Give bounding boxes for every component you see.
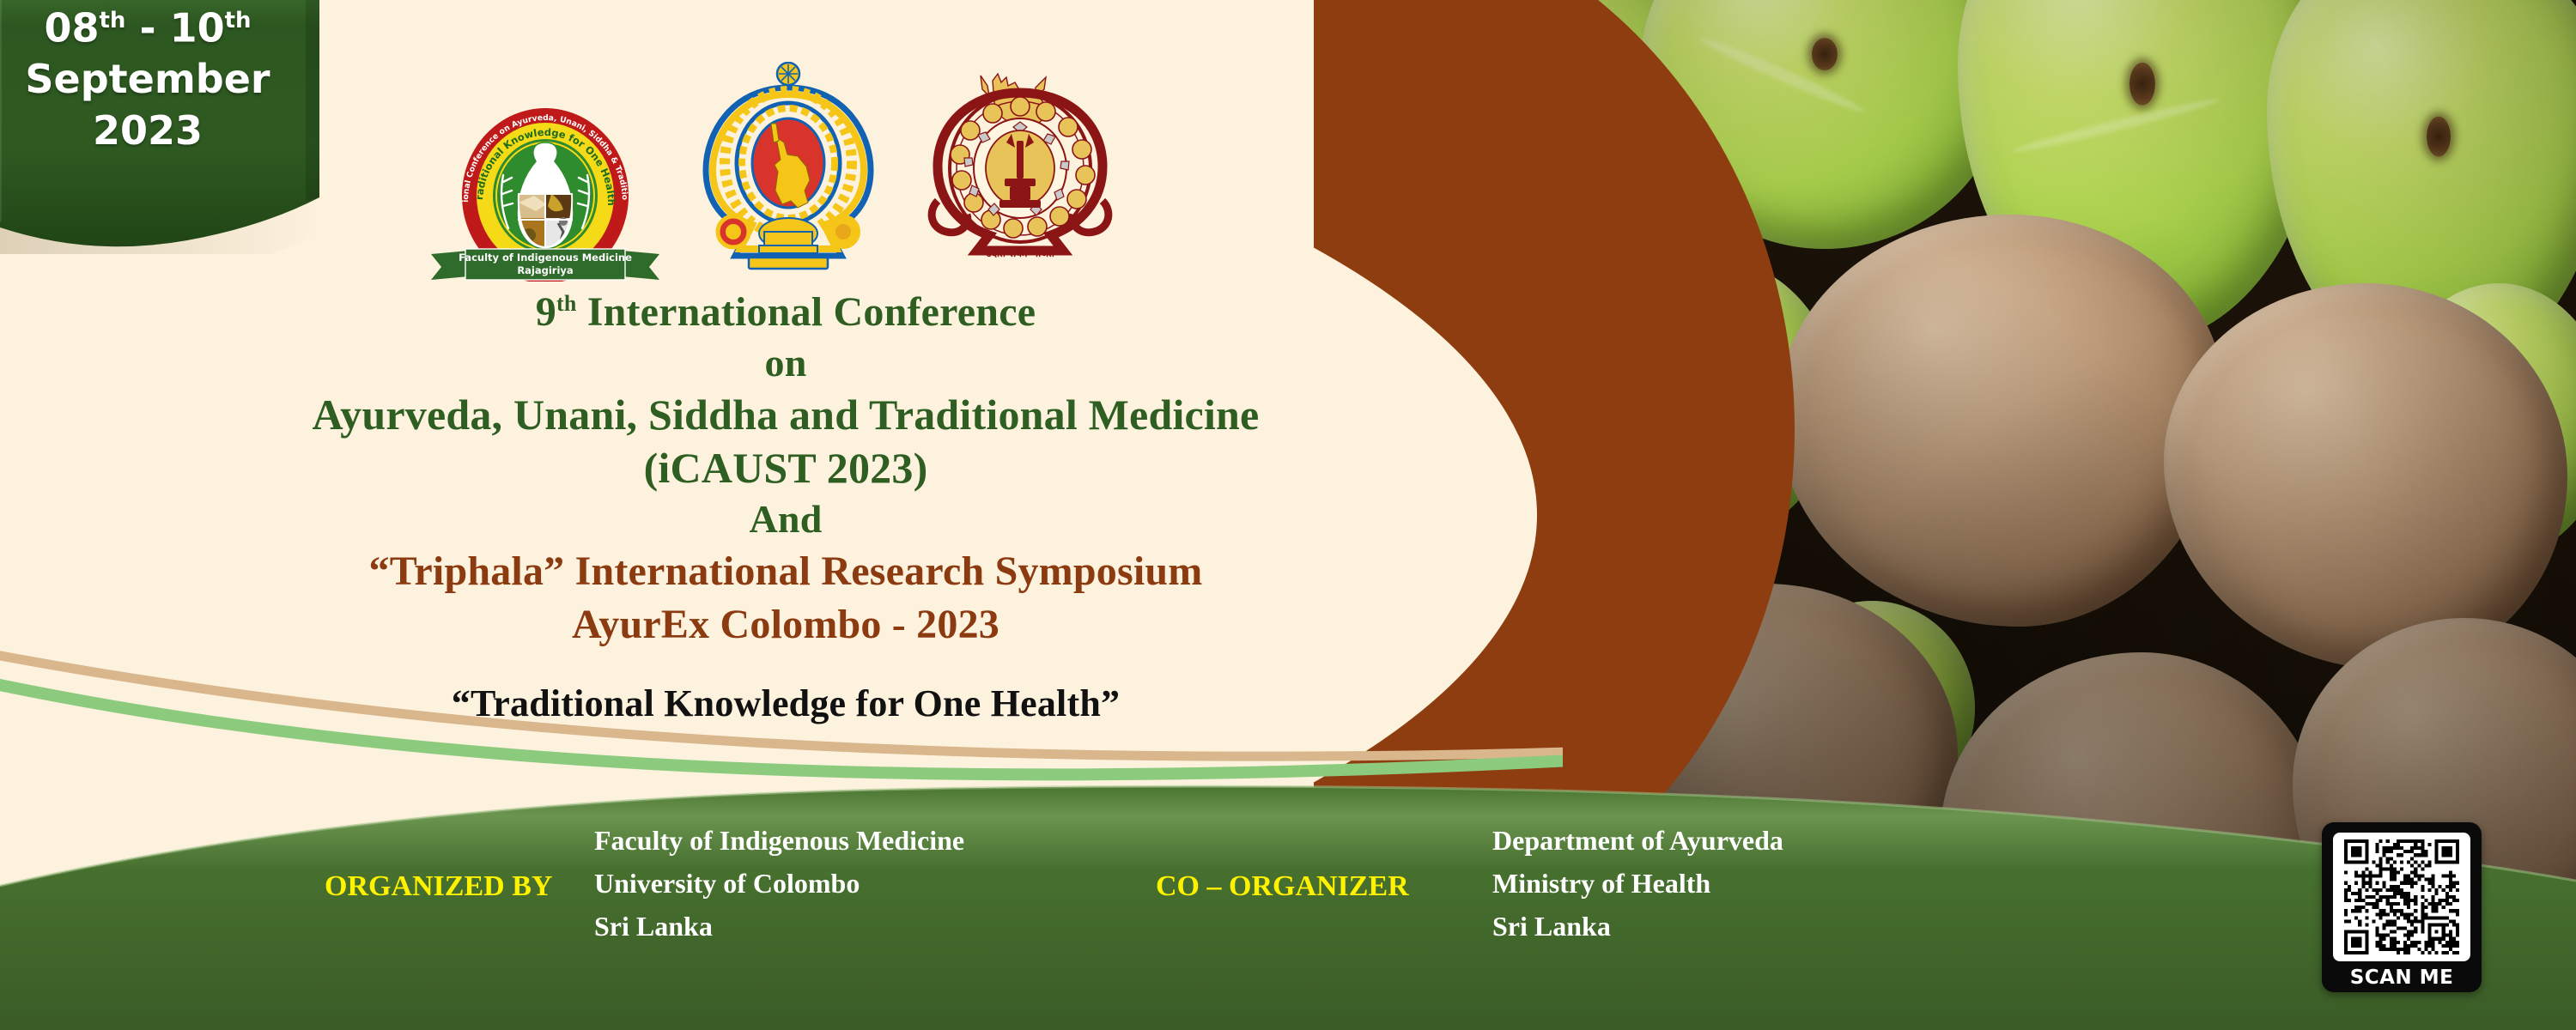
date-year: 2023 <box>0 105 307 156</box>
title-line-ayurex: AyurEx Colombo - 2023 <box>0 604 1571 645</box>
co-organizer-line-2: Ministry of Health <box>1492 862 1783 905</box>
organized-by-line-3: Sri Lanka <box>594 905 964 948</box>
title-line-and: And <box>0 500 1571 539</box>
svg-text:Rajagiriya: Rajagiriya <box>517 264 573 276</box>
title-tagline: “Traditional Knowledge for One Health” <box>0 685 1571 723</box>
footer-content: ORGANIZED BY Faculty of Indigenous Medic… <box>0 824 2576 1030</box>
date-badge-text: 08th - 10th September 2023 <box>0 0 307 156</box>
qr-code-icon[interactable] <box>2333 833 2470 961</box>
title-line-on: on <box>0 343 1571 383</box>
co-organizer-line-1: Department of Ayurveda <box>1492 819 1783 862</box>
date-month: September <box>0 53 307 105</box>
title-line-conference: 9th International Conference <box>0 292 1571 333</box>
qr-caption: SCAN ME <box>2350 966 2454 989</box>
title-line-symposium: “Triphala” International Research Sympos… <box>0 551 1571 592</box>
sri-lanka-national-emblem <box>685 62 891 281</box>
conference-logo: 9th International Conference on Ayurveda… <box>429 93 661 286</box>
organized-by-label: ORGANIZED BY <box>325 870 552 903</box>
organized-by-lines: Faculty of Indigenous Medicine Universit… <box>594 819 964 948</box>
university-of-colombo-crest: उदेति सर्वत्र भाजते <box>926 72 1115 274</box>
co-organizer-lines: Department of Ayurveda Ministry of Healt… <box>1492 819 1783 948</box>
qr-code-badge[interactable]: SCAN ME <box>2322 822 2482 992</box>
organized-by-line-1: Faculty of Indigenous Medicine <box>594 819 964 862</box>
title-block: 9th International Conference on Ayurveda… <box>0 292 1571 723</box>
svg-text:Faculty of Indigenous Medicine: Faculty of Indigenous Medicine <box>459 251 632 264</box>
qr-code-canvas[interactable] <box>2344 839 2459 954</box>
conference-banner: 08th - 10th September 2023 9th Internati… <box>0 0 2576 1030</box>
organized-by-line-2: University of Colombo <box>594 862 964 905</box>
date-badge: 08th - 10th September 2023 <box>0 0 323 254</box>
svg-text:उदेति सर्वत्र भाजते: उदेति सर्वत्र भाजते <box>985 247 1055 259</box>
co-organizer-label: CO – ORGANIZER <box>1156 870 1409 903</box>
title-line-acronym: (iCAUST 2023) <box>0 446 1571 489</box>
co-organizer-line-3: Sri Lanka <box>1492 905 1783 948</box>
logo-row: 9th International Conference on Ayurveda… <box>412 69 1168 283</box>
title-line-subjects: Ayurveda, Unani, Siddha and Traditional … <box>0 393 1571 436</box>
